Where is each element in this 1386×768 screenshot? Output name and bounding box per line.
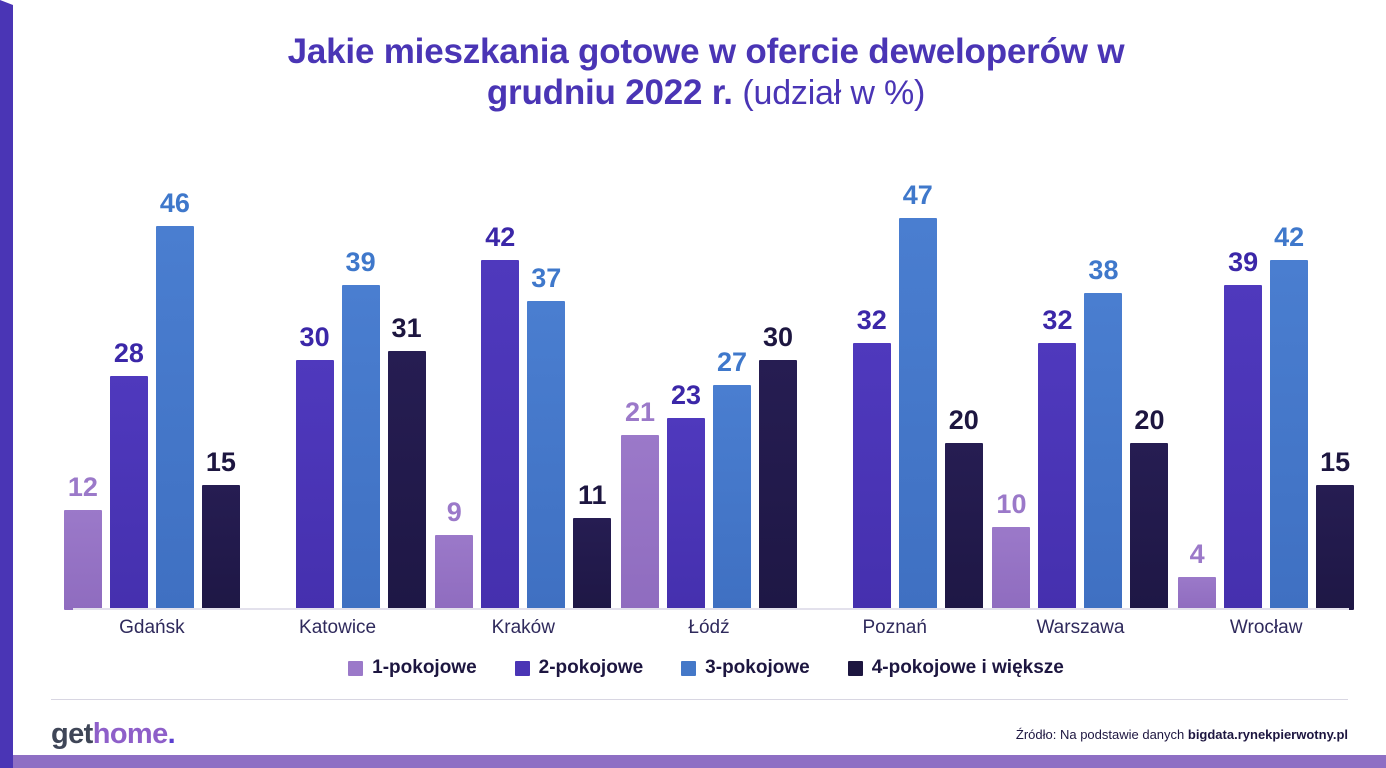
chart-title: Jakie mieszkania gotowe w ofercie dewelo… (26, 31, 1386, 114)
legend-item-label: 1-pokojowe (372, 657, 477, 679)
bar[interactable] (481, 260, 519, 610)
x-axis-label: Warszawa (988, 617, 1174, 639)
bar-3-wrapper: 47 (899, 155, 937, 610)
bar[interactable] (667, 418, 705, 610)
bar[interactable] (992, 527, 1030, 610)
bar-group: 10323820 (988, 155, 1174, 610)
bar-3-wrapper: 38 (1084, 155, 1122, 610)
bar[interactable] (1130, 443, 1168, 610)
bar[interactable] (573, 518, 611, 610)
x-axis-labels: GdańskKatowiceKrakówŁódźPoznańWarszawaWr… (59, 617, 1359, 639)
bar[interactable] (64, 510, 102, 610)
x-axis-label: Łódź (616, 617, 802, 639)
bar[interactable] (621, 435, 659, 610)
bar-value-label: 39 (346, 249, 376, 276)
bar-2-wrapper: 30 (296, 155, 334, 610)
bar-value-label: 31 (392, 315, 422, 342)
bar-1-wrapper: 12 (64, 155, 102, 610)
bar-value-label: 42 (485, 224, 515, 251)
bar[interactable] (713, 385, 751, 610)
x-axis-line (73, 608, 1349, 610)
bar-3-wrapper: 27 (713, 155, 751, 610)
x-axis-label: Katowice (245, 617, 431, 639)
legend-swatch-icon (848, 661, 863, 676)
bar-value-label: 30 (300, 324, 330, 351)
bar-4-wrapper: 11 (573, 155, 611, 610)
logo-home-text: home (93, 718, 168, 750)
bar-2-wrapper: 32 (853, 155, 891, 610)
bar-4-wrapper: 31 (388, 155, 426, 610)
bar-3-wrapper: 39 (342, 155, 380, 610)
bar-value-label: 32 (1042, 307, 1072, 334)
bar[interactable] (435, 535, 473, 610)
bar-4-wrapper: 15 (202, 155, 240, 610)
bar-1-wrapper: 21 (621, 155, 659, 610)
bar-3-wrapper: 46 (156, 155, 194, 610)
bar[interactable] (1316, 485, 1354, 610)
bar-4-wrapper: 30 (759, 155, 797, 610)
bar[interactable] (342, 285, 380, 610)
bar[interactable] (853, 343, 891, 610)
legend-item[interactable]: 1-pokojowe (348, 657, 477, 679)
bar-group: 4394215 (1173, 155, 1359, 610)
bar[interactable] (945, 443, 983, 610)
footer: gethome. Źródło: Na podstawie danych big… (51, 710, 1348, 758)
bar-2-wrapper: 39 (1224, 155, 1262, 610)
bar-group: 303931 (245, 155, 431, 610)
legend-swatch-icon (348, 661, 363, 676)
footer-divider (51, 699, 1348, 700)
bar-value-label: 23 (671, 382, 701, 409)
bar[interactable] (110, 376, 148, 610)
bar[interactable] (1038, 343, 1076, 610)
bar-4-wrapper: 20 (945, 155, 983, 610)
bar-1-wrapper: 4 (1178, 155, 1216, 610)
legend-item[interactable]: 2-pokojowe (515, 657, 644, 679)
bar-2-wrapper: 42 (481, 155, 519, 610)
bar-value-label: 10 (996, 491, 1026, 518)
source-prefix: Źródło: Na podstawie danych (1016, 727, 1188, 742)
legend-item[interactable]: 3-pokojowe (681, 657, 810, 679)
bar-value-label: 37 (531, 265, 561, 292)
bar[interactable] (759, 360, 797, 610)
bar-1-wrapper: 10 (992, 155, 1030, 610)
bar-group: 324720 (802, 155, 988, 610)
bar-value-label: 30 (763, 324, 793, 351)
bar-2-wrapper: 28 (110, 155, 148, 610)
legend-item[interactable]: 4-pokojowe i większe (848, 657, 1064, 679)
legend-item-label: 3-pokojowe (705, 657, 810, 679)
logo-dot: . (168, 718, 175, 750)
source-link: bigdata.rynekpierwotny.pl (1188, 727, 1348, 742)
bar[interactable] (202, 485, 240, 610)
bar-group: 12284615 (59, 155, 245, 610)
bar-value-label: 32 (857, 307, 887, 334)
bar-value-label: 38 (1088, 257, 1118, 284)
logo-get-text: get (51, 718, 93, 750)
bar-value-label: 28 (114, 340, 144, 367)
bar-value-label: 12 (68, 474, 98, 501)
chart-title-line-2: grudniu 2022 r. (udział w %) (26, 72, 1386, 113)
plot-area: 1228461530393194237112123273032472010323… (59, 155, 1359, 610)
legend-swatch-icon (515, 661, 530, 676)
bar-value-label: 11 (578, 482, 607, 509)
bar[interactable] (1270, 260, 1308, 610)
x-axis-label: Gdańsk (59, 617, 245, 639)
bar[interactable] (1178, 577, 1216, 610)
bar-2-wrapper: 23 (667, 155, 705, 610)
bar-group: 21232730 (616, 155, 802, 610)
bar-value-label: 27 (717, 349, 747, 376)
bar-1-wrapper: 9 (435, 155, 473, 610)
legend-item-label: 4-pokojowe i większe (872, 657, 1064, 679)
x-axis-label: Poznań (802, 617, 988, 639)
bar-4-wrapper: 15 (1316, 155, 1354, 610)
bar-value-label: 46 (160, 190, 190, 217)
bar-value-label: 4 (1190, 541, 1205, 568)
chart-title-line-1: Jakie mieszkania gotowe w ofercie dewelo… (26, 31, 1386, 72)
bar-4-wrapper: 20 (1130, 155, 1168, 610)
bar[interactable] (1084, 293, 1122, 610)
source-note: Źródło: Na podstawie danych bigdata.ryne… (1016, 727, 1348, 742)
bar-3-wrapper: 37 (527, 155, 565, 610)
gethome-logo: gethome. (51, 718, 175, 751)
bar[interactable] (156, 226, 194, 610)
bar[interactable] (388, 351, 426, 610)
bar[interactable] (296, 360, 334, 610)
bar-value-label: 47 (903, 182, 933, 209)
legend-swatch-icon (681, 661, 696, 676)
bar-3-wrapper: 42 (1270, 155, 1308, 610)
chart-title-line-2-bold: grudniu 2022 r. (487, 73, 733, 112)
bar[interactable] (1224, 285, 1262, 610)
bar-group: 9423711 (430, 155, 616, 610)
bar-value-label: 20 (949, 407, 979, 434)
x-axis-label: Wrocław (1173, 617, 1359, 639)
bar-value-label: 39 (1228, 249, 1258, 276)
chart-canvas: Jakie mieszkania gotowe w ofercie dewelo… (0, 0, 1386, 768)
chart-title-unit: (udział w %) (742, 74, 925, 112)
chart-legend: 1-pokojowe2-pokojowe3-pokojowe4-pokojowe… (26, 657, 1386, 679)
bar-value-label: 15 (206, 449, 236, 476)
bar-value-label: 20 (1134, 407, 1164, 434)
legend-item-label: 2-pokojowe (539, 657, 644, 679)
bar-value-label: 9 (447, 499, 462, 526)
bar-value-label: 42 (1274, 224, 1304, 251)
bar-value-label: 15 (1320, 449, 1350, 476)
bar-groups: 1228461530393194237112123273032472010323… (59, 155, 1359, 610)
bar[interactable] (527, 301, 565, 610)
bar[interactable] (899, 218, 937, 610)
bar-value-label: 21 (625, 399, 655, 426)
x-axis-label: Kraków (430, 617, 616, 639)
bar-2-wrapper: 32 (1038, 155, 1076, 610)
